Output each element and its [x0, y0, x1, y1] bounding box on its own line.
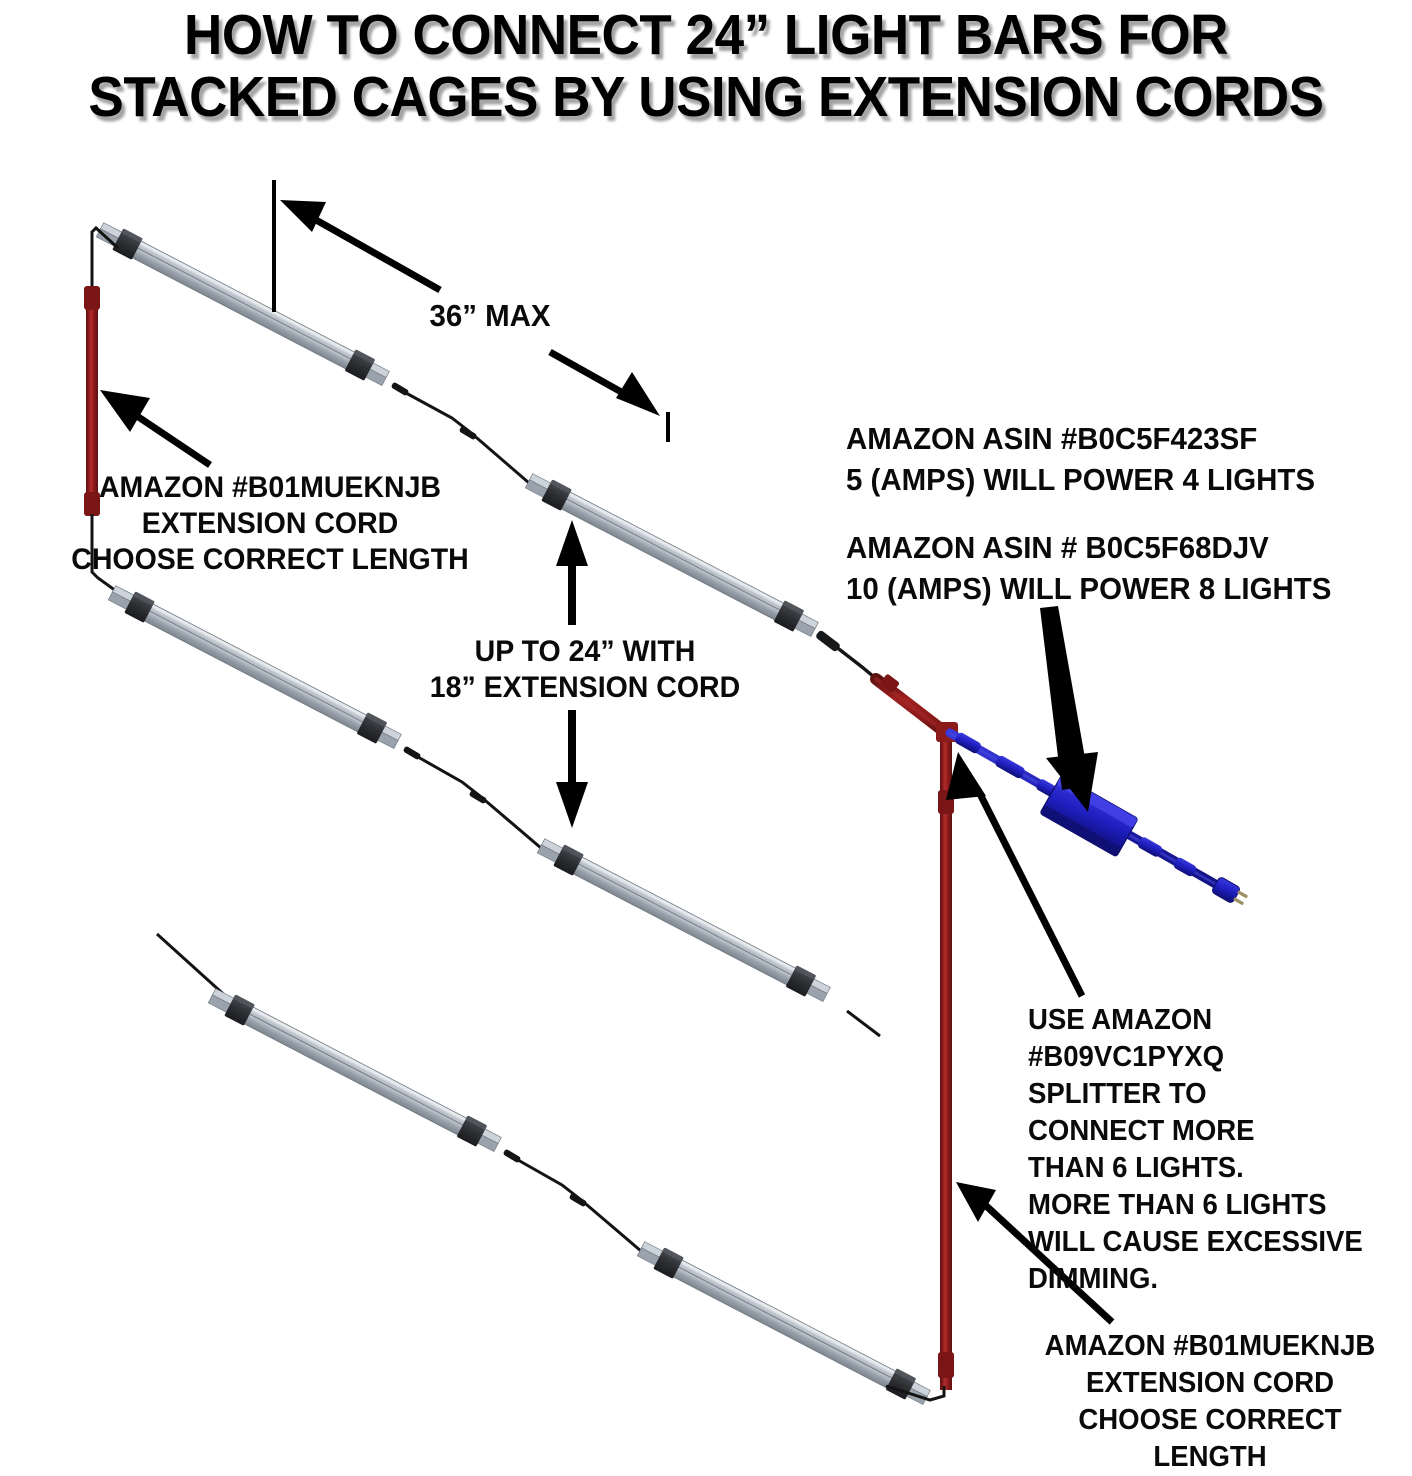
light-bar-5 [206, 985, 503, 1155]
callout-arrow-24-up [556, 520, 588, 625]
diagram-canvas: HOW TO CONNECT 24” LIGHT BARS FOR STACKE… [0, 0, 1412, 1414]
annotation-splitter-note: USE AMAZON #B09VC1PYXQ SPLITTER TO CONNE… [1028, 1002, 1399, 1298]
annotation-extension-cord-left: AMAZON #B01MUEKNJB EXTENSION CORD CHOOSE… [42, 470, 498, 578]
light-bar-4 [535, 835, 832, 1005]
connector-bar4-in [469, 790, 488, 805]
connector-bar6-in [569, 1193, 588, 1208]
connector-bar1-out [391, 382, 410, 397]
light-bar-6 [635, 1238, 932, 1408]
dim-arrow-right [550, 352, 660, 416]
light-bar-3 [106, 582, 403, 752]
connector-bar2-out [815, 630, 841, 653]
power-plug [1211, 876, 1249, 908]
annotation-extension-cord-right: AMAZON #B01MUEKNJB EXTENSION CORD CHOOSE… [1020, 1328, 1400, 1476]
splitter-red-leg-vertical [938, 728, 954, 1390]
annotation-asin-10amp: AMAZON ASIN # B0C5F68DJV 10 (AMPS) WILL … [846, 527, 1378, 609]
annotation-asin-5amp: AMAZON ASIN #B0C5F423SF 5 (AMPS) WILL PO… [846, 418, 1378, 500]
cord-bar5-to-bar6 [518, 1160, 648, 1257]
light-bar-1 [94, 219, 391, 389]
callout-arrow-24-down [556, 710, 588, 828]
cord-bar4-tail [847, 1011, 880, 1036]
connector-bar3-out [403, 746, 422, 761]
connector-bar5-out [503, 1149, 522, 1164]
connector-bar2-in [459, 426, 478, 441]
cord-bar3-to-bar4 [418, 757, 548, 854]
annotation-spacing-24-with-18: UP TO 24” WITH 18” EXTENSION CORD [428, 634, 742, 706]
callout-arrow-left-cord [100, 390, 210, 465]
dim-arrow-left [280, 200, 440, 290]
callout-arrow-transformer [1040, 606, 1098, 812]
annotation-36-max: 36” MAX [367, 298, 614, 334]
